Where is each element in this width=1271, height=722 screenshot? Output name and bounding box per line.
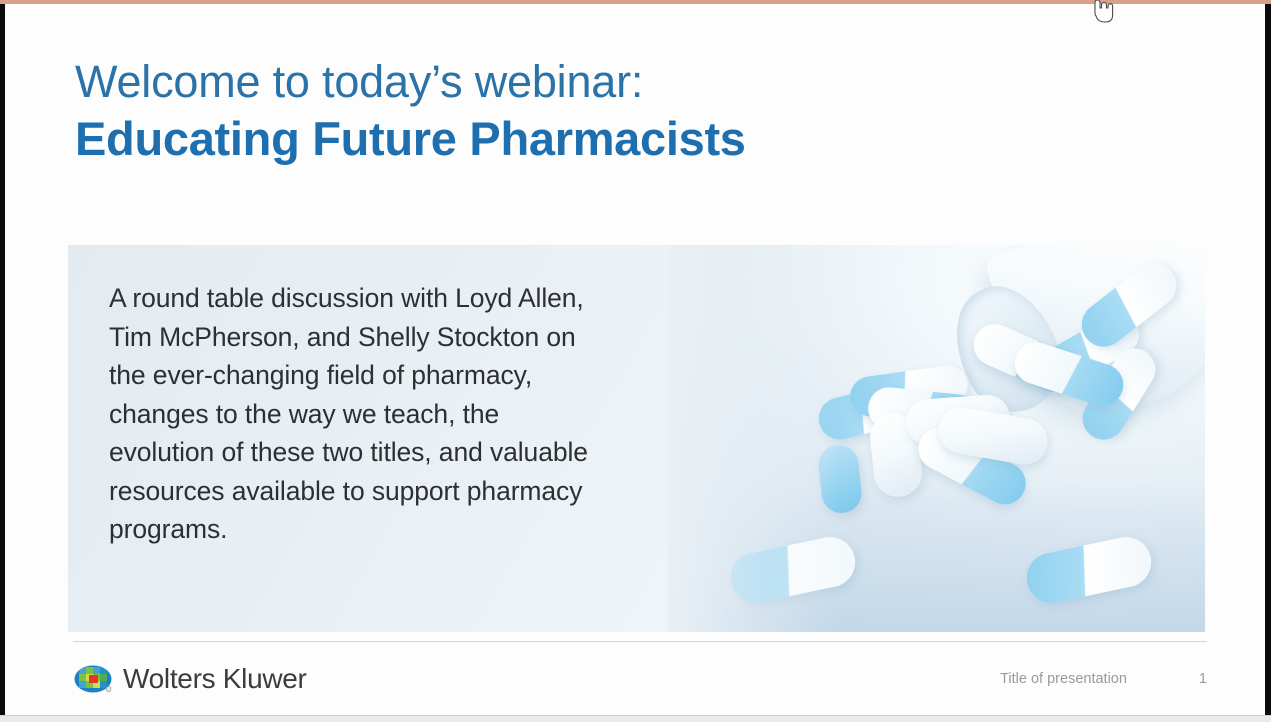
slide-title-block: Welcome to today’s webinar: Educating Fu…	[75, 55, 1075, 167]
presentation-title: Title of presentation	[1000, 671, 1127, 687]
brand-lockup: R Wolters Kluwer	[73, 663, 307, 695]
footer-meta: Title of presentation 1	[1000, 671, 1207, 687]
screen-root: Welcome to today’s webinar: Educating Fu…	[0, 0, 1271, 722]
page-number: 1	[1199, 671, 1207, 687]
presentation-slide: Welcome to today’s webinar: Educating Fu…	[5, 4, 1265, 715]
footer-divider	[73, 641, 1207, 642]
wolters-kluwer-globe-logo-icon: R	[73, 664, 113, 694]
slide-footer: R Wolters Kluwer Title of presentation 1	[73, 656, 1207, 702]
slide-content-band: A round table discussion with Loyd Allen…	[68, 245, 1205, 632]
window-border-right	[1265, 4, 1271, 715]
slide-title-line-1: Welcome to today’s webinar:	[75, 55, 1075, 108]
description-text: A round table discussion with Loyd Allen…	[109, 279, 589, 549]
window-border-bottom	[0, 715, 1271, 722]
slide-title-line-2: Educating Future Pharmacists	[75, 111, 1075, 167]
photo-left-fade	[668, 245, 838, 632]
pill-photo	[668, 245, 1205, 632]
description-panel: A round table discussion with Loyd Allen…	[68, 245, 668, 632]
brand-name: Wolters Kluwer	[123, 663, 307, 695]
